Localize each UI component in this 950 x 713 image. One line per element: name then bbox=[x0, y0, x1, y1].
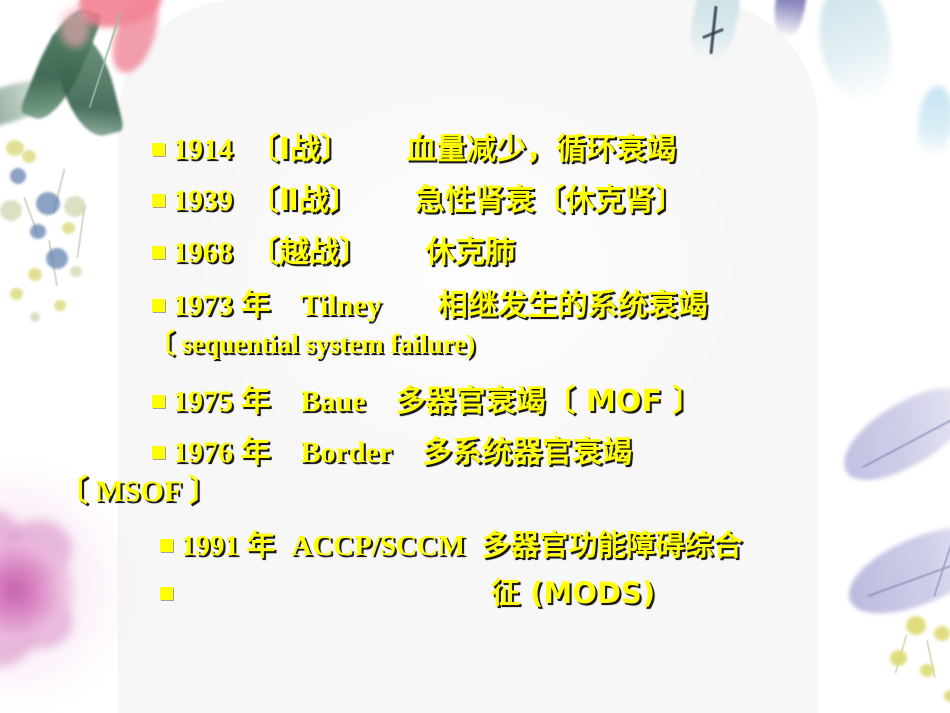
square-bullet-icon bbox=[152, 299, 165, 312]
war-label-1939: 〔Ⅱ战〕 bbox=[249, 183, 359, 218]
bullet-line-1914: 1914〔Ⅰ战〕血量减少，循环衰竭 bbox=[152, 124, 676, 168]
author-tilney: Tilney bbox=[301, 289, 382, 322]
slide-canvas: 1914〔Ⅰ战〕血量减少，循环衰竭 1939〔Ⅱ战〕急性肾衰〔休克肾〕 1968… bbox=[0, 0, 950, 713]
bullet-line-1975: 1975 年Baue多器官衰竭〔 MOF 〕 bbox=[152, 376, 702, 420]
war-label-1968: 〔越战〕 bbox=[249, 235, 369, 270]
year-1968: 1968 bbox=[173, 236, 233, 269]
desc-1975: 多器官衰竭〔 MOF 〕 bbox=[396, 384, 703, 419]
bullet-line-1976-continuation: 〔 MSOF 〕 bbox=[58, 466, 219, 510]
war-label-1914: 〔Ⅰ战〕 bbox=[249, 132, 350, 167]
desc-1968: 休克肺 bbox=[425, 235, 515, 270]
desc-1991: 多器官功能障碍综合 bbox=[481, 528, 742, 562]
author-accp-sccm: ACCP/SCCM bbox=[291, 530, 465, 562]
square-bullet-icon bbox=[152, 395, 165, 408]
square-bullet-icon bbox=[152, 143, 165, 156]
slide-text-body: 1914〔Ⅰ战〕血量减少，循环衰竭 1939〔Ⅱ战〕急性肾衰〔休克肾〕 1968… bbox=[0, 0, 950, 713]
desc-1939: 急性肾衰〔休克肾〕 bbox=[415, 183, 685, 218]
desc-1991-continuation: 征 (MODS) bbox=[491, 576, 655, 610]
year-1975: 1975 年 bbox=[173, 385, 271, 418]
square-bullet-icon bbox=[152, 246, 165, 259]
square-bullet-icon bbox=[152, 446, 165, 459]
author-baue: Baue bbox=[301, 385, 366, 418]
bullet-line-1991-continuation: 征 (MODS) bbox=[160, 570, 655, 612]
bullet-line-1968: 1968〔越战〕休克肺 bbox=[152, 227, 515, 271]
desc-1976: 多系统器官衰竭 bbox=[422, 435, 632, 470]
bullet-line-1973: 1973 年Tilney相继发生的系统衰竭 bbox=[152, 280, 708, 324]
bullet-line-1973-continuation: 〔 sequential system failure) bbox=[148, 322, 475, 361]
year-1976: 1976 年 bbox=[173, 436, 271, 469]
bullet-line-1991: 1991 年ACCP/SCCM多器官功能障碍综合 bbox=[160, 522, 742, 564]
square-bullet-icon bbox=[160, 587, 173, 600]
desc-1973: 相继发生的系统衰竭 bbox=[438, 288, 708, 323]
desc-1976-continuation: 〔 MSOF 〕 bbox=[58, 475, 219, 508]
bullet-line-1976: 1976 年Border多系统器官衰竭 bbox=[152, 427, 632, 471]
square-bullet-icon bbox=[152, 194, 165, 207]
square-bullet-icon bbox=[160, 539, 173, 552]
author-border: Border bbox=[301, 436, 393, 469]
bullet-line-1939: 1939〔Ⅱ战〕急性肾衰〔休克肾〕 bbox=[152, 175, 685, 219]
year-1939: 1939 bbox=[173, 184, 233, 217]
year-1991: 1991 年 bbox=[181, 530, 275, 562]
desc-1914: 血量减少，循环衰竭 bbox=[406, 132, 676, 167]
desc-1973-continuation: 〔 sequential system failure) bbox=[148, 329, 475, 359]
year-1914: 1914 bbox=[173, 133, 233, 166]
year-1973: 1973 年 bbox=[173, 289, 271, 322]
